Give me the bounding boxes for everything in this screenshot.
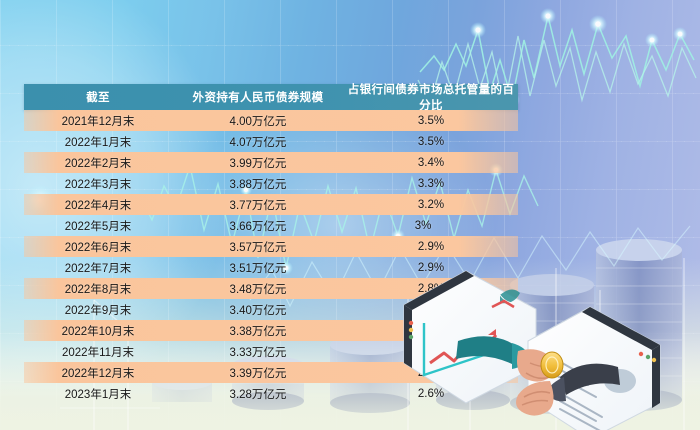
left-browser-window: [404, 271, 536, 403]
cell-date: 2022年1月末: [24, 134, 172, 150]
cell-scale: 3.39万亿元: [172, 365, 344, 381]
cell-scale: 3.40万亿元: [172, 302, 344, 318]
column-header-date: 截至: [24, 89, 172, 105]
hands-exchanging-coin-illustration: [400, 255, 700, 430]
column-header-scale: 外资持有人民币债券规模: [172, 89, 344, 105]
cell-date: 2022年6月末: [24, 239, 172, 255]
table-row: 2022年5月末 3.66万亿元 3%: [24, 215, 518, 236]
cell-percent: 3.2%: [344, 199, 518, 211]
table-row: 2022年3月末 3.88万亿元 3.3%: [24, 173, 518, 194]
cell-percent: 3.5%: [344, 136, 518, 148]
cell-date: 2022年7月末: [24, 260, 172, 276]
cell-date: 2022年11月末: [24, 344, 172, 360]
cell-scale: 3.99万亿元: [172, 155, 344, 171]
cell-scale: 3.66万亿元: [172, 218, 344, 234]
cell-scale: 3.38万亿元: [172, 323, 344, 339]
cell-scale: 3.57万亿元: [172, 239, 344, 255]
cell-percent: 3.5%: [344, 115, 518, 127]
gold-coin: [541, 352, 563, 378]
cell-scale: 3.51万亿元: [172, 260, 344, 276]
cell-scale: 4.00万亿元: [172, 113, 344, 129]
cell-date: 2022年10月末: [24, 323, 172, 339]
column-header-percent: 占银行间债券市场总托管量的百分比: [344, 81, 518, 113]
cell-percent: 3.4%: [344, 157, 518, 169]
cell-date: 2022年4月末: [24, 197, 172, 213]
table-row: 2022年2月末 3.99万亿元 3.4%: [24, 152, 518, 173]
cell-date: 2022年3月末: [24, 176, 172, 192]
table-row: 2022年6月末 3.57万亿元 2.9%: [24, 236, 518, 257]
cell-date: 2023年1月末: [24, 386, 172, 402]
cell-scale: 3.28万亿元: [172, 386, 344, 402]
cell-date: 2022年5月末: [24, 218, 172, 234]
table-header-row: 截至 外资持有人民币债券规模 占银行间债券市场总托管量的百分比: [24, 84, 518, 110]
infographic-canvas: 截至 外资持有人民币债券规模 占银行间债券市场总托管量的百分比 2021年12月…: [0, 0, 700, 430]
cell-percent: 3.3%: [344, 178, 518, 190]
table-row: 2022年1月末 4.07万亿元 3.5%: [24, 131, 518, 152]
cell-date: 2022年8月末: [24, 281, 172, 297]
cell-scale: 3.88万亿元: [172, 176, 344, 192]
cell-scale: 3.48万亿元: [172, 281, 344, 297]
cell-scale: 4.07万亿元: [172, 134, 344, 150]
cell-date: 2022年12月末: [24, 365, 172, 381]
table-row: 2021年12月末 4.00万亿元 3.5%: [24, 110, 518, 131]
cell-scale: 3.33万亿元: [172, 344, 344, 360]
table-row: 2022年4月末 3.77万亿元 3.2%: [24, 194, 518, 215]
cell-percent: 3%: [344, 220, 518, 232]
cell-scale: 3.77万亿元: [172, 197, 344, 213]
cell-percent: 2.9%: [344, 241, 518, 253]
cell-date: 2022年9月末: [24, 302, 172, 318]
cell-date: 2022年2月末: [24, 155, 172, 171]
cell-date: 2021年12月末: [24, 113, 172, 129]
